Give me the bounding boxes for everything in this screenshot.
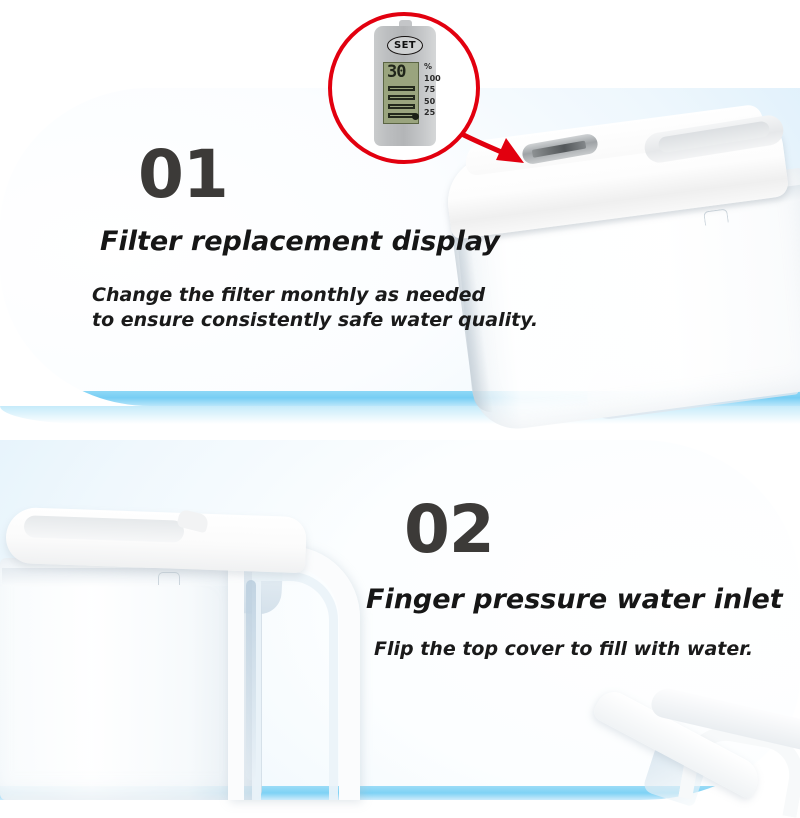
scale-label-75: 75: [424, 84, 450, 96]
lcd-indicator-dot: [412, 113, 419, 120]
scale-label-percent: %: [424, 61, 450, 73]
set-button[interactable]: SET: [387, 36, 423, 55]
feature-panel-02: [0, 440, 800, 800]
lcd-value-text: 30: [387, 64, 405, 81]
scale-label-100: 100: [424, 73, 450, 85]
feature-description-01-line-2: to ensure consistently safe water qualit…: [92, 308, 538, 333]
scale-label-25: 25: [424, 107, 450, 119]
scale-label-50: 50: [424, 96, 450, 108]
feature-description-02-line-1: Flip the top cover to fill with water.: [374, 637, 753, 662]
feature-number-01: 01: [138, 142, 228, 208]
feature-description-01-line-1: Change the filter monthly as needed: [92, 283, 485, 308]
filter-display-callout: SET 30 % 100 75 50 25: [328, 12, 488, 172]
lcd-level-bar-2: [388, 95, 415, 100]
feature-title-01: Filter replacement display: [100, 227, 500, 257]
feature-title-02: Finger pressure water inlet: [366, 585, 783, 615]
set-button-label: SET: [394, 41, 416, 51]
lcd-level-bar-3: [388, 104, 415, 109]
panel-two-bottom-accent-bar: [0, 786, 800, 800]
lcd-level-bar-1: [388, 86, 415, 91]
feature-number-02: 02: [404, 497, 494, 563]
lcd-scale-labels: % 100 75 50 25: [424, 61, 450, 119]
lcd-level-bar-4: [388, 113, 415, 118]
panel-bottom-accent-bar: [0, 391, 800, 406]
lcd-screen: 30: [383, 62, 419, 124]
panel-one-glow: [0, 406, 800, 424]
